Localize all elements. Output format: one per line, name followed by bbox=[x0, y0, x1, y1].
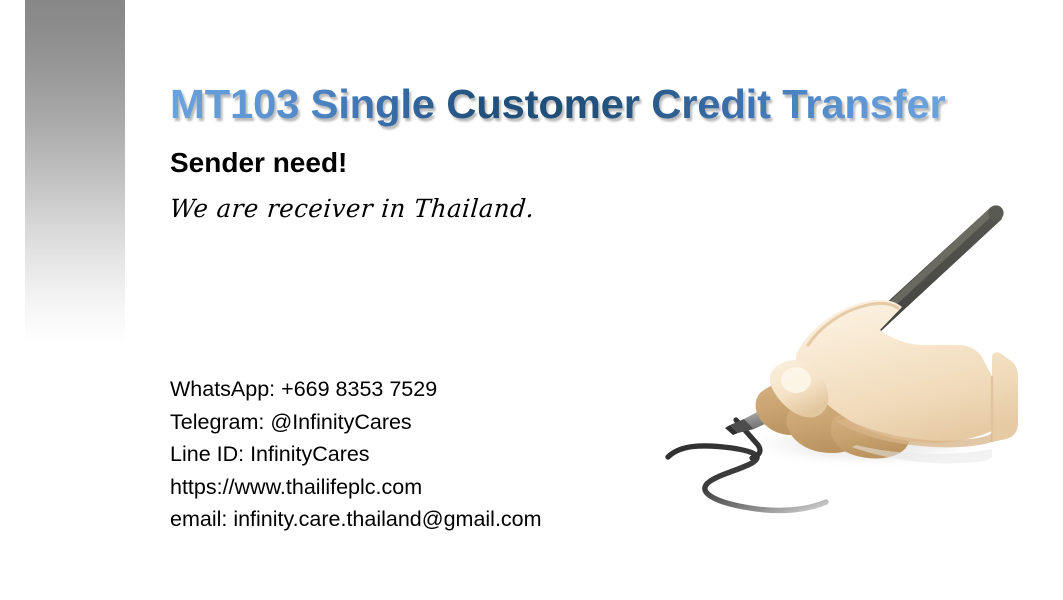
left-gradient-bar bbox=[25, 0, 125, 345]
contact-block: WhatsApp: +669 8353 7529 Telegram: @Infi… bbox=[170, 373, 690, 536]
contact-line-whatsapp[interactable]: WhatsApp: +669 8353 7529 bbox=[170, 373, 690, 406]
contact-line-telegram[interactable]: Telegram: @InfinityCares bbox=[170, 406, 690, 439]
thumb-knuckle-highlight bbox=[781, 367, 811, 393]
contact-line-email[interactable]: email: infinity.care.thailand@gmail.com bbox=[170, 503, 690, 536]
contact-line-lineid[interactable]: Line ID: InfinityCares bbox=[170, 438, 690, 471]
slide-canvas: MT103 Single Customer Credit Transfer MT… bbox=[0, 0, 1063, 600]
hand-writing-with-pen-icon bbox=[640, 195, 1040, 525]
headline-text: Sender need! bbox=[170, 146, 347, 180]
pen-cap-end bbox=[988, 205, 1003, 220]
contact-line-website[interactable]: https://www.thailifeplc.com bbox=[170, 471, 690, 504]
page-title-text: MT103 Single Customer Credit Transfer bbox=[170, 78, 946, 130]
subheadline-text: We are receiver in Thailand. bbox=[169, 193, 536, 225]
page-title: MT103 Single Customer Credit Transfer MT… bbox=[170, 78, 1010, 130]
